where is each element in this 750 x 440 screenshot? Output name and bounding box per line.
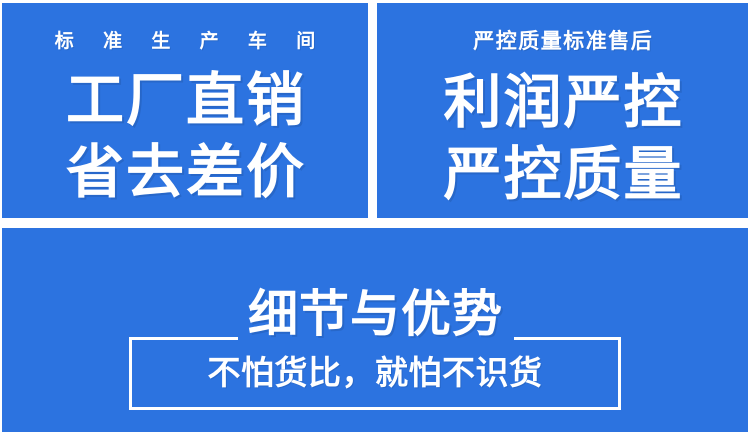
panel-quality-eyebrow: 严控质量标准售后	[472, 31, 654, 52]
panel-factory-headline-line1: 工厂直销	[64, 72, 306, 130]
panel-quality-headline-line2: 严控质量	[441, 146, 683, 204]
panel-factory-headline-line2: 省去差价	[64, 144, 306, 202]
panel-factory-direct-sales: 标 准 生 产 车 间 工厂直销 省去差价	[2, 3, 368, 218]
details-frame-wrapper: 细节与优势 不怕货比，就怕不识货	[129, 337, 621, 410]
panel-factory-eyebrow: 标 准 生 产 车 间	[43, 32, 327, 51]
panel-factory-content: 标 准 生 产 车 间 工厂直销 省去差价	[2, 3, 368, 218]
panel-quality-control: 严控质量标准售后 利润严控 严控质量	[377, 3, 748, 218]
promo-banner: 标 准 生 产 车 间 工厂直销 省去差价 严控质量标准售后 利润严控 严控质量…	[0, 0, 750, 440]
panel-quality-content: 严控质量标准售后 利润严控 严控质量	[377, 3, 748, 218]
panel-details-and-advantages: 细节与优势 不怕货比，就怕不识货	[2, 228, 748, 432]
panel-quality-headline-line1: 利润严控	[441, 74, 683, 132]
panel-details-content: 细节与优势 不怕货比，就怕不识货	[2, 228, 748, 432]
details-subtitle: 不怕货比，就怕不识货	[129, 356, 621, 389]
details-heading: 细节与优势	[129, 289, 621, 339]
